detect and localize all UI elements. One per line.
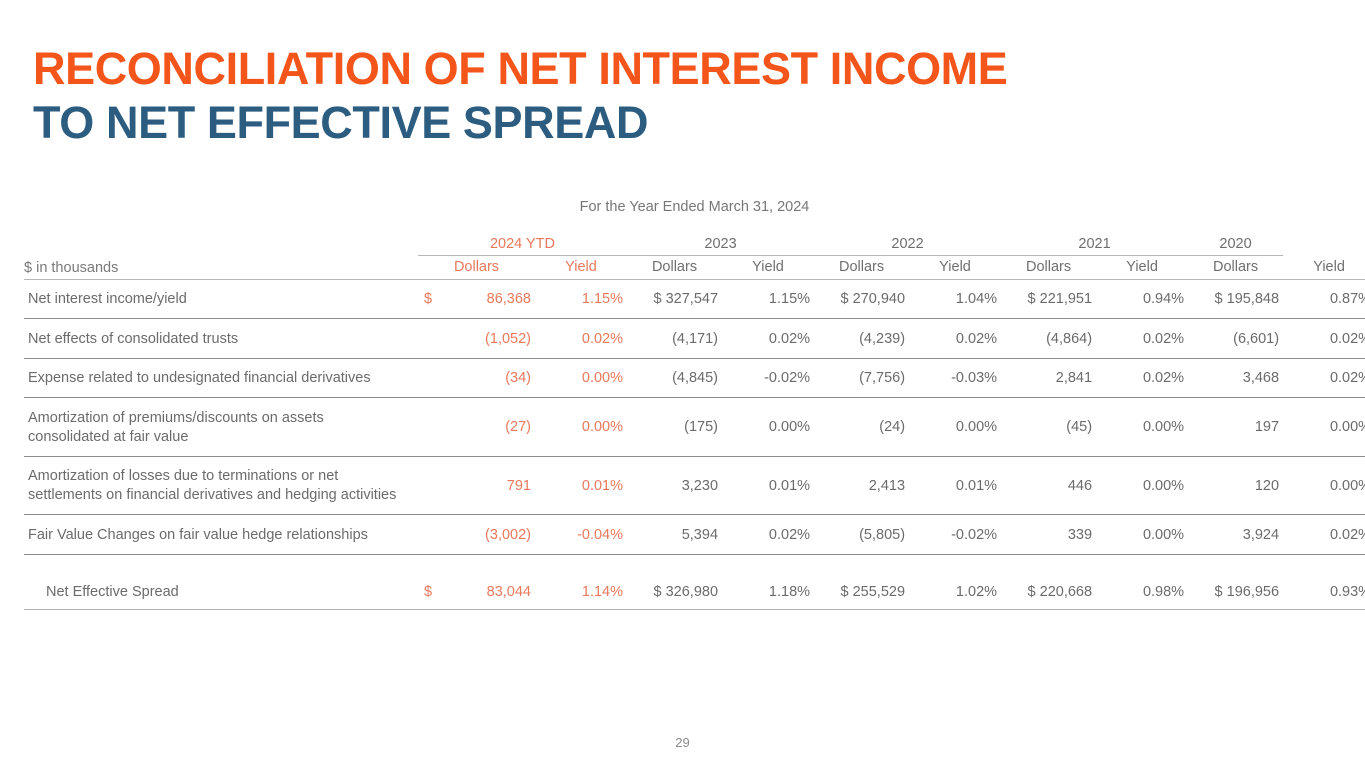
total-row-label: Net Effective Spread [24,577,418,610]
cell-2024-dollars: (3,002) [440,516,535,555]
cell-2020-dollars: 197 [1188,399,1283,457]
group-header-spacer [24,236,418,256]
cell-2020-dollars: 3,468 [1188,359,1283,398]
cell-2023-dollars: (175) [627,399,722,457]
table-row: Fair Value Changes on fair value hedge r… [24,516,1365,555]
cell-2021-yield: 0.02% [1096,320,1188,359]
cell-2022-yield: 1.04% [909,280,1001,319]
cell-2024-symbol [418,457,440,515]
page-title-line-1: RECONCILIATION OF NET INTEREST INCOME [33,42,1007,96]
cell-2022-yield: -0.03% [909,359,1001,398]
period-caption: For the Year Ended March 31, 2024 [0,199,1365,215]
column-group-2022: 2022 [814,236,1001,256]
page-number: 29 [0,735,1365,750]
cell-2021-dollars: (4,864) [1001,320,1096,359]
slide: RECONCILIATION OF NET INTEREST INCOME TO… [0,0,1365,768]
cell-2024-yield: -0.04% [535,516,627,555]
subheader-2023-yield: Yield [722,256,814,280]
cell-2024-dollars: 86,368 [440,280,535,319]
cell-2023-dollars: 3,230 [627,457,722,515]
cell-2024-dollars: (27) [440,399,535,457]
cell-2024-yield: 0.01% [535,457,627,515]
cell-2022-dollars: (7,756) [814,359,909,398]
total-2020-dollars: $ 196,956 [1188,577,1283,610]
total-2021-dollars: $ 220,668 [1001,577,1096,610]
cell-2022-dollars: (5,805) [814,516,909,555]
column-group-2020-spacer [1283,236,1365,256]
reconciliation-table: 2024 YTD 2023 2022 2021 2020 $ in thousa… [24,236,1365,610]
cell-2020-yield: 0.02% [1283,320,1365,359]
cell-2023-dollars: (4,171) [627,320,722,359]
cell-2024-dollars: 791 [440,457,535,515]
cell-2020-dollars: 3,924 [1188,516,1283,555]
row-label-line-2: settlements on financial derivatives and… [28,487,396,503]
cell-2020-yield: 0.00% [1283,399,1365,457]
cell-2022-dollars: (24) [814,399,909,457]
table-head: 2024 YTD 2023 2022 2021 2020 $ in thousa… [24,236,1365,280]
group-header-row: 2024 YTD 2023 2022 2021 2020 [24,236,1365,256]
row-label: Fair Value Changes on fair value hedge r… [24,516,418,555]
row-label-line-2: consolidated at fair value [28,429,188,445]
cell-2024-yield: 0.00% [535,359,627,398]
cell-2023-dollars: 5,394 [627,516,722,555]
cell-2020-dollars: $ 195,848 [1188,280,1283,319]
cell-2020-dollars: (6,601) [1188,320,1283,359]
cell-2023-yield: 0.02% [722,320,814,359]
cell-2020-yield: 0.02% [1283,516,1365,555]
row-label-line-1: Amortization of premiums/discounts on as… [28,410,324,426]
subheader-2020-yield: Yield [1283,256,1365,280]
cell-2024-dollars: (1,052) [440,320,535,359]
cell-2022-yield: 0.00% [909,399,1001,457]
total-2024-dollars: 83,044 [440,577,535,610]
cell-2021-dollars: 446 [1001,457,1096,515]
total-2023-yield: 1.18% [722,577,814,610]
cell-2022-yield: 0.01% [909,457,1001,515]
total-2021-yield: 0.98% [1096,577,1188,610]
cell-2020-dollars: 120 [1188,457,1283,515]
cell-2024-yield: 1.15% [535,280,627,319]
page-title: RECONCILIATION OF NET INTEREST INCOME TO… [33,42,1007,150]
period-caption-text: For the Year Ended March 31, 2024 [580,199,810,215]
cell-2022-yield: -0.02% [909,516,1001,555]
cell-2023-yield: 0.00% [722,399,814,457]
column-group-2024-ytd: 2024 YTD [418,236,627,256]
cell-2022-dollars: $ 270,940 [814,280,909,319]
row-label: Amortization of losses due to terminatio… [24,457,418,515]
subheader-2024-dollars: Dollars [418,256,535,280]
row-label: Amortization of premiums/discounts on as… [24,399,418,457]
subheader-2021-dollars: Dollars [1001,256,1096,280]
table-body: Net interest income/yield $ 86,368 1.15%… [24,280,1365,610]
total-row: Net Effective Spread $ 83,044 1.14% $ 32… [24,577,1365,610]
cell-2024-dollars: (34) [440,359,535,398]
total-2024-yield: 1.14% [535,577,627,610]
cell-2024-yield: 0.02% [535,320,627,359]
table-row: Expense related to undesignated financia… [24,359,1365,398]
table-row: Net interest income/yield $ 86,368 1.15%… [24,280,1365,319]
subheader-2024-yield: Yield [535,256,627,280]
total-spacer [24,555,1365,577]
column-group-2021: 2021 [1001,236,1188,256]
column-group-2023: 2023 [627,236,814,256]
cell-2021-dollars: (45) [1001,399,1096,457]
cell-2022-yield: 0.02% [909,320,1001,359]
total-2022-dollars: $ 255,529 [814,577,909,610]
table-row: Amortization of premiums/discounts on as… [24,399,1365,457]
total-2023-dollars: $ 326,980 [627,577,722,610]
cell-2020-yield: 0.00% [1283,457,1365,515]
cell-2023-yield: 1.15% [722,280,814,319]
subheader-2022-dollars: Dollars [814,256,909,280]
units-label: $ in thousands [24,256,418,280]
cell-2021-yield: 0.00% [1096,399,1188,457]
cell-2021-dollars: $ 221,951 [1001,280,1096,319]
cell-2022-dollars: (4,239) [814,320,909,359]
table-row: Amortization of losses due to terminatio… [24,457,1365,515]
cell-2021-dollars: 339 [1001,516,1096,555]
cell-2024-yield: 0.00% [535,399,627,457]
cell-2023-dollars: (4,845) [627,359,722,398]
total-2022-yield: 1.02% [909,577,1001,610]
subheader-2022-yield: Yield [909,256,1001,280]
cell-2023-yield: -0.02% [722,359,814,398]
row-label: Net effects of consolidated trusts [24,320,418,359]
subheader-2021-yield: Yield [1096,256,1188,280]
cell-2021-yield: 0.00% [1096,516,1188,555]
subheader-2020-dollars: Dollars [1188,256,1283,280]
cell-2024-symbol: $ [418,280,440,319]
cell-2021-dollars: 2,841 [1001,359,1096,398]
cell-2022-dollars: 2,413 [814,457,909,515]
cell-2024-symbol [418,399,440,457]
row-label-line-1: Amortization of losses due to terminatio… [28,468,338,484]
column-group-2020: 2020 [1188,236,1283,256]
cell-2021-yield: 0.00% [1096,457,1188,515]
cell-2020-yield: 0.02% [1283,359,1365,398]
sub-header-row: $ in thousands Dollars Yield Dollars Yie… [24,256,1365,280]
row-label: Expense related to undesignated financia… [24,359,418,398]
cell-2024-symbol [418,359,440,398]
cell-2024-symbol [418,516,440,555]
cell-2021-yield: 0.94% [1096,280,1188,319]
cell-2024-symbol [418,320,440,359]
reconciliation-table-container: 2024 YTD 2023 2022 2021 2020 $ in thousa… [24,236,1336,610]
total-2024-symbol: $ [418,577,440,610]
total-2020-yield: 0.93% [1283,577,1365,610]
cell-2021-yield: 0.02% [1096,359,1188,398]
cell-2023-dollars: $ 327,547 [627,280,722,319]
row-label: Net interest income/yield [24,280,418,319]
cell-2020-yield: 0.87% [1283,280,1365,319]
page-title-line-2: TO NET EFFECTIVE SPREAD [33,96,1007,150]
subheader-2023-dollars: Dollars [627,256,722,280]
cell-2023-yield: 0.02% [722,516,814,555]
cell-2023-yield: 0.01% [722,457,814,515]
table-row: Net effects of consolidated trusts (1,05… [24,320,1365,359]
